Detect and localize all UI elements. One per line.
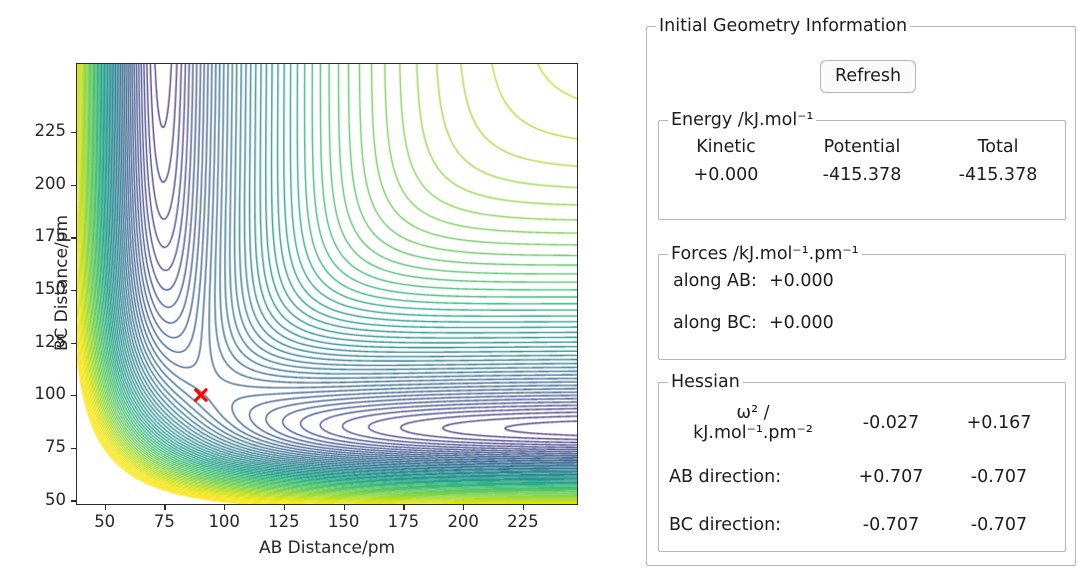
ytick-mark-75 bbox=[71, 448, 76, 449]
force-value-ab: +0.000 bbox=[769, 271, 834, 291]
energy-value-total: -415.378 bbox=[931, 161, 1065, 189]
hessian-ab-value-1: +0.707 bbox=[837, 467, 945, 487]
ytick-mark-50 bbox=[71, 500, 76, 501]
hessian-ab-value-2: -0.707 bbox=[945, 467, 1053, 487]
hessian-omega-value-1: -0.027 bbox=[837, 413, 945, 433]
hessian-row-ab: AB direction: +0.707 -0.707 bbox=[669, 453, 1055, 501]
energy-value-row: +0.000 -415.378 -415.378 bbox=[659, 161, 1065, 189]
hessian-table: ω² / kJ.mol⁻¹.pm⁻² -0.027 +0.167 AB dire… bbox=[669, 393, 1055, 549]
xtick-label-125: 125 bbox=[254, 512, 314, 531]
xtick-mark-125 bbox=[284, 505, 285, 510]
force-label-bc: along BC: bbox=[673, 313, 769, 333]
hessian-bc-value-2: -0.707 bbox=[945, 515, 1053, 535]
ytick-label-50: 50 bbox=[8, 490, 66, 509]
x-axis-title: AB Distance/pm bbox=[76, 538, 578, 558]
xtick-mark-50 bbox=[105, 505, 106, 510]
hessian-bc-value-1: -0.707 bbox=[837, 515, 945, 535]
contour-plot-panel: 50 75 100 125 150 175 200 225 50 75 100 … bbox=[0, 0, 620, 576]
xtick-mark-175 bbox=[403, 505, 404, 510]
force-value-bc: +0.000 bbox=[769, 313, 834, 333]
xtick-label-175: 175 bbox=[373, 512, 433, 531]
xtick-label-150: 150 bbox=[314, 512, 374, 531]
energy-value-kinetic: +0.000 bbox=[659, 161, 793, 189]
ytick-label-225: 225 bbox=[8, 121, 66, 140]
hessian-omega-line2: kJ.mol⁻¹.pm⁻² bbox=[669, 423, 837, 443]
xtick-mark-200 bbox=[463, 505, 464, 510]
energy-value-potential: -415.378 bbox=[793, 161, 931, 189]
groupbox-forces: Forces /kJ.mol⁻¹.pm⁻¹ along AB:+0.000 al… bbox=[658, 254, 1066, 360]
ytick-mark-225 bbox=[71, 132, 76, 133]
groupbox-energy: Energy /kJ.mol⁻¹ Kinetic Potential Total… bbox=[658, 120, 1066, 220]
contour-plot-canvas bbox=[77, 64, 577, 504]
xtick-label-225: 225 bbox=[493, 512, 553, 531]
plot-axes-frame bbox=[76, 63, 578, 505]
xtick-mark-150 bbox=[344, 505, 345, 510]
force-label-ab: along AB: bbox=[673, 271, 769, 291]
xtick-mark-225 bbox=[523, 505, 524, 510]
force-row-ab: along AB:+0.000 bbox=[673, 271, 834, 291]
refresh-button[interactable]: Refresh bbox=[820, 60, 916, 93]
groupbox-title-energy: Energy /kJ.mol⁻¹ bbox=[668, 110, 816, 130]
energy-header-row: Kinetic Potential Total bbox=[659, 133, 1065, 161]
energy-table: Kinetic Potential Total +0.000 -415.378 … bbox=[659, 133, 1065, 189]
xtick-mark-100 bbox=[224, 505, 225, 510]
groupbox-hessian: Hessian ω² / kJ.mol⁻¹.pm⁻² -0.027 +0.167… bbox=[658, 382, 1066, 552]
initial-geometry-information-panel: Initial Geometry Information Refresh Ene… bbox=[640, 14, 1076, 566]
energy-header-potential: Potential bbox=[793, 133, 931, 161]
hessian-row-bc: BC direction: -0.707 -0.707 bbox=[669, 501, 1055, 549]
hessian-omega-line1: ω² / bbox=[669, 403, 837, 423]
xtick-mark-75 bbox=[164, 505, 165, 510]
groupbox-title-initial-geometry: Initial Geometry Information bbox=[656, 16, 910, 36]
xtick-label-200: 200 bbox=[433, 512, 493, 531]
hessian-row-omega: ω² / kJ.mol⁻¹.pm⁻² -0.027 +0.167 bbox=[669, 393, 1055, 453]
xtick-label-50: 50 bbox=[75, 512, 135, 531]
hessian-label-bc: BC direction: bbox=[669, 515, 837, 535]
hessian-label-omega: ω² / kJ.mol⁻¹.pm⁻² bbox=[669, 403, 837, 443]
energy-header-total: Total bbox=[931, 133, 1065, 161]
groupbox-title-hessian: Hessian bbox=[668, 372, 743, 392]
hessian-omega-value-2: +0.167 bbox=[945, 413, 1053, 433]
hessian-label-ab: AB direction: bbox=[669, 467, 837, 487]
energy-header-kinetic: Kinetic bbox=[659, 133, 793, 161]
force-row-bc: along BC:+0.000 bbox=[673, 313, 834, 333]
xtick-label-100: 100 bbox=[194, 512, 254, 531]
groupbox-title-forces: Forces /kJ.mol⁻¹.pm⁻¹ bbox=[668, 244, 862, 264]
ytick-label-75: 75 bbox=[8, 437, 66, 456]
y-axis-title: BC Distance/pm bbox=[52, 143, 72, 423]
xtick-label-75: 75 bbox=[134, 512, 194, 531]
